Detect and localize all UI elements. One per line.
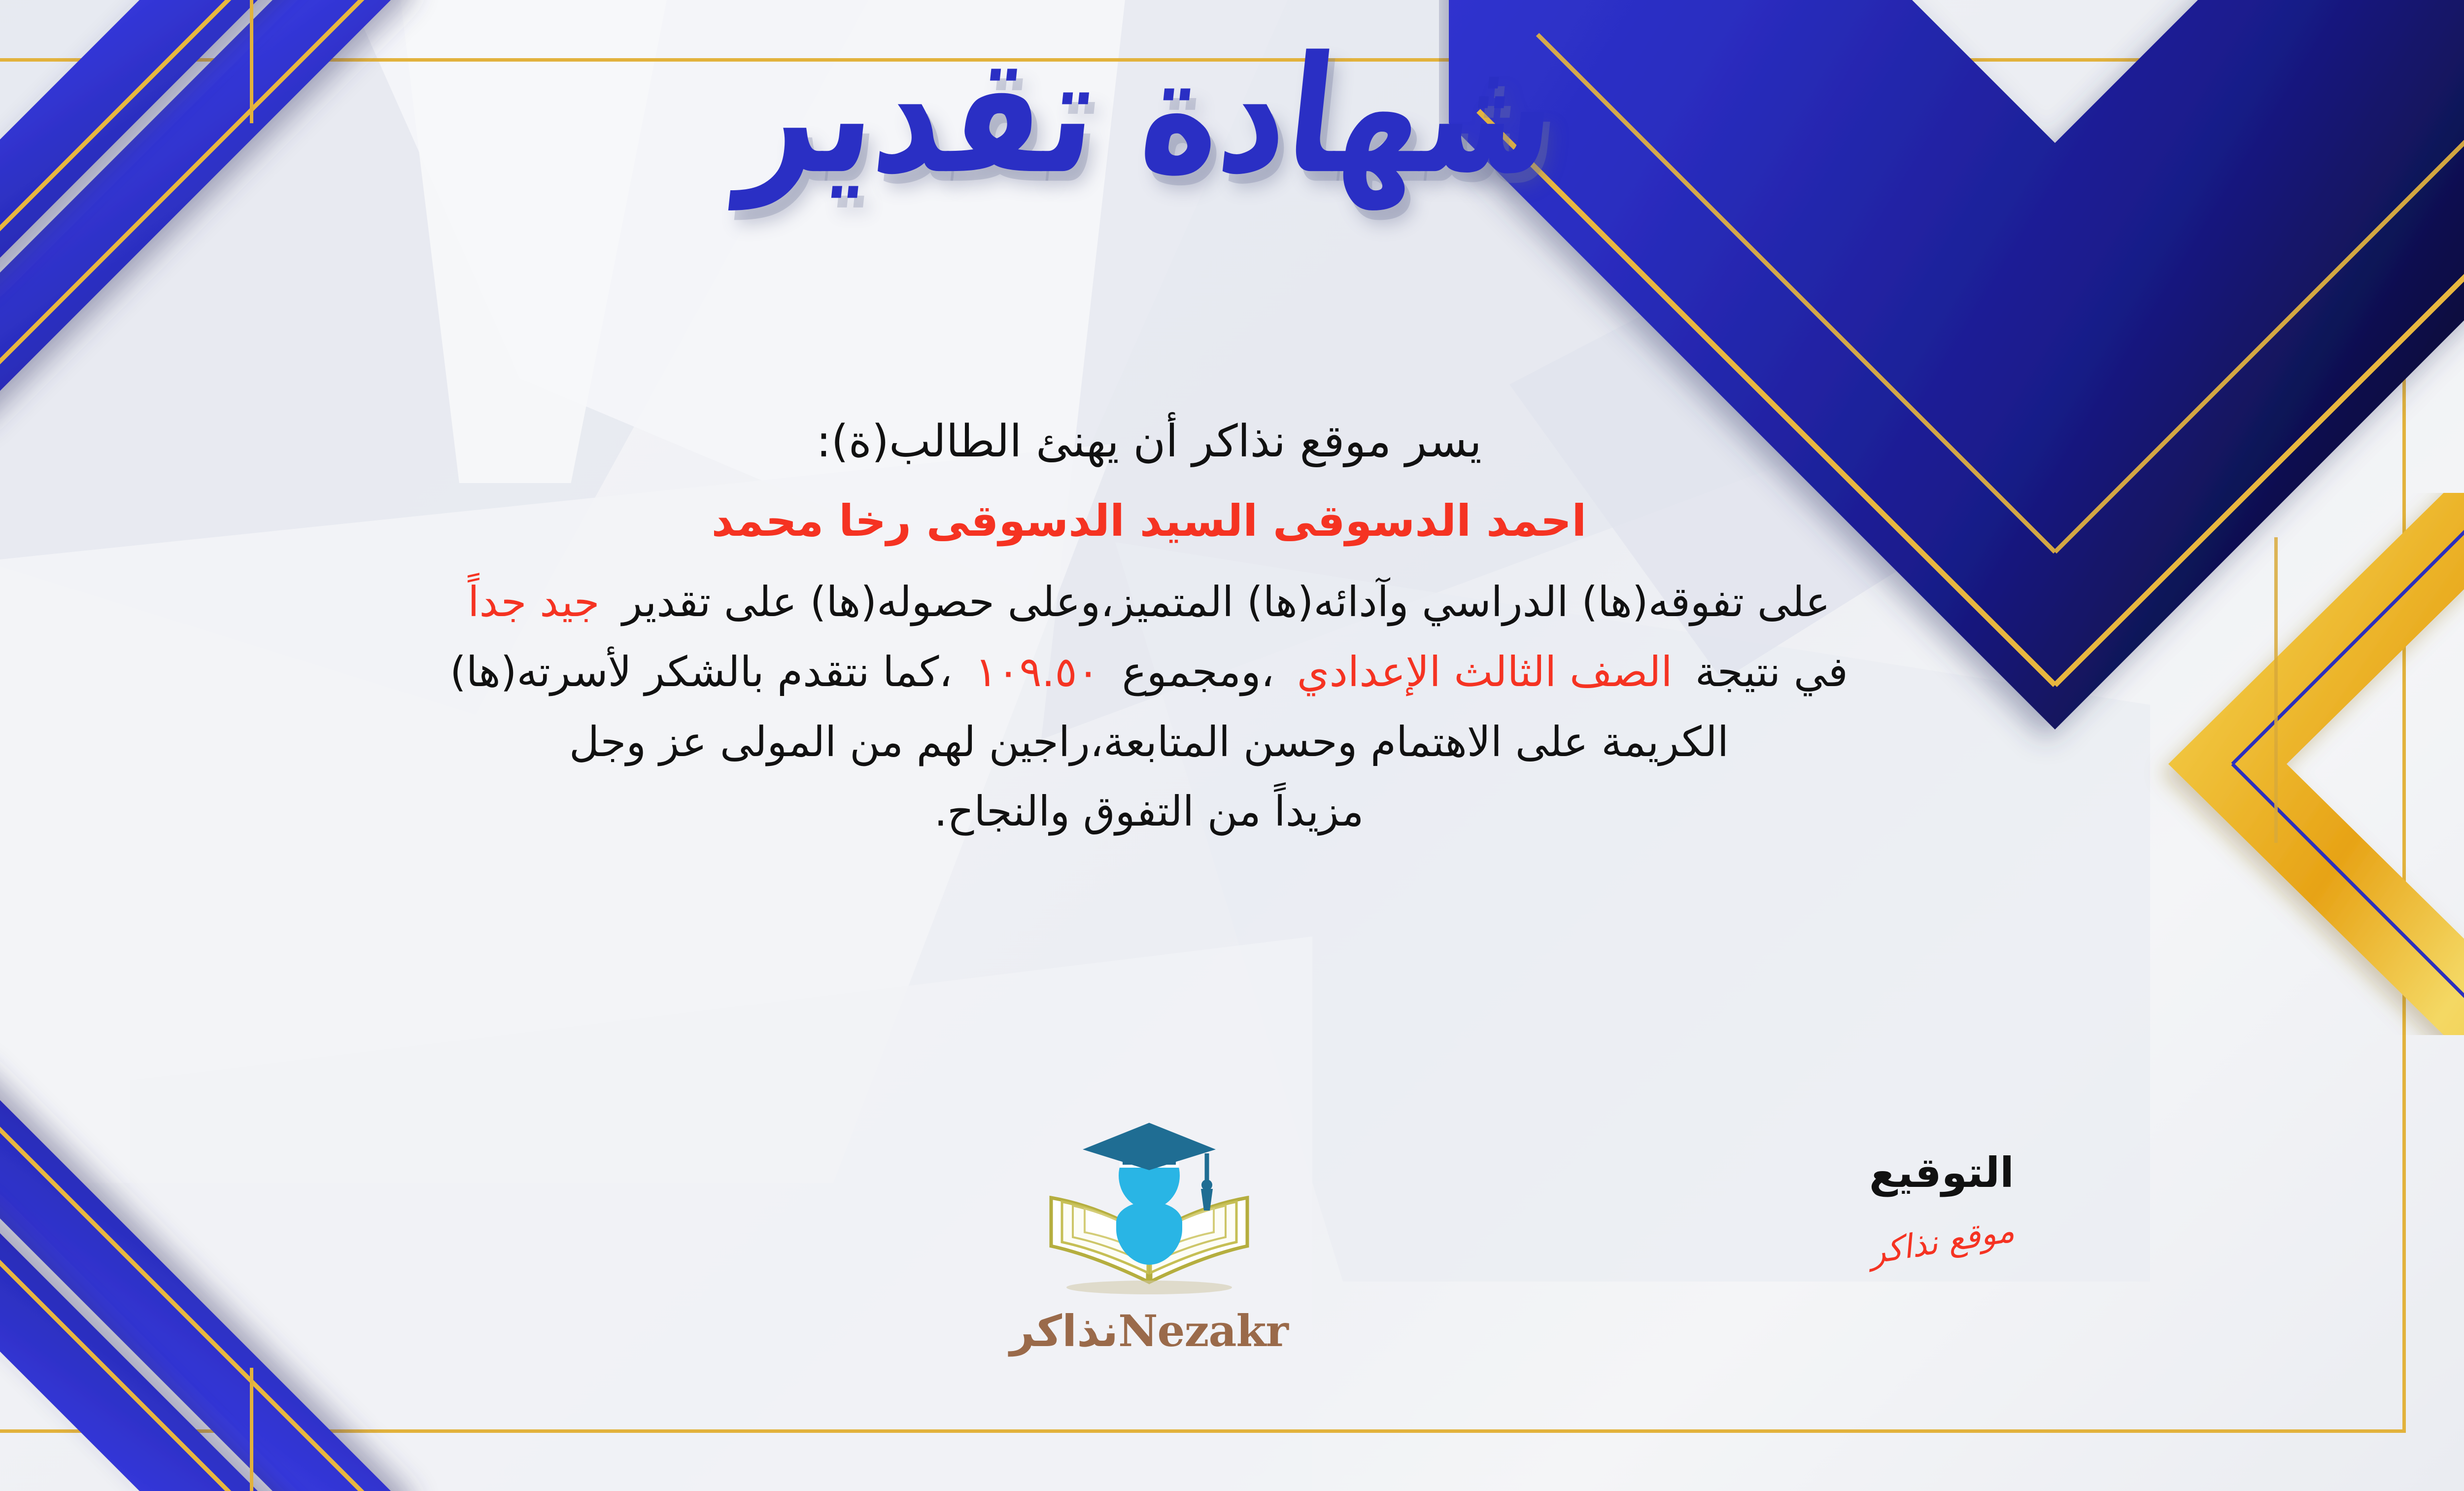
certificate-body: يسر موقع نذاكر أن يهنئ الطالب(ة): احمد ا… [0, 409, 2316, 850]
certificate-title-area: شهادة تقدير [0, 47, 2464, 185]
achievement-line: على تفوقه(ها) الدراسي وآدائه(ها) المتميز… [0, 571, 2316, 634]
certificate-title: شهادة تقدير [735, 32, 1564, 201]
logo-wordmark: Nezakrنذاكر [0, 1305, 2464, 1356]
total-label: ،ومجموع [1122, 648, 1274, 696]
family-thanks-line: الكريمة على الاهتمام وحسن المتابعة،راجين… [0, 711, 2316, 774]
closing-line: مزيداً من التفوق والنجاح. [0, 780, 2316, 843]
total-score: ١٠٩.٥٠ [975, 648, 1099, 696]
achievement-text: على تفوقه(ها) الدراسي وآدائه(ها) المتميز… [622, 578, 1830, 626]
gold-accent-line [250, 1368, 253, 1491]
thanks-text: ،كما نتقدم بالشكر لأسرته(ها) [450, 648, 952, 696]
grade-evaluation: جيد جداً [468, 578, 599, 626]
intro-line: يسر موقع نذاكر أن يهنئ الطالب(ة): [0, 409, 2316, 474]
certificate-page: شهادة تقدير يسر موقع نذاكر أن يهنئ الطال… [0, 0, 2464, 1491]
logo-arabic-text: نذاكر [1010, 1306, 1118, 1356]
brand-logo: Nezakrنذاكر [0, 1119, 2464, 1356]
student-name: احمد الدسوقى السيد الدسوقى رخا محمد [0, 495, 2316, 546]
result-prefix: في نتيجة [1695, 648, 1848, 696]
graduate-book-logo-icon [1033, 1119, 1265, 1306]
grade-and-score-line: في نتيجةالصف الثالث الإعدادي،ومجموع١٠٩.٥… [0, 641, 2316, 704]
school-grade: الصف الثالث الإعدادي [1297, 648, 1673, 696]
logo-latin-text: Nezakr [1118, 1305, 1288, 1356]
